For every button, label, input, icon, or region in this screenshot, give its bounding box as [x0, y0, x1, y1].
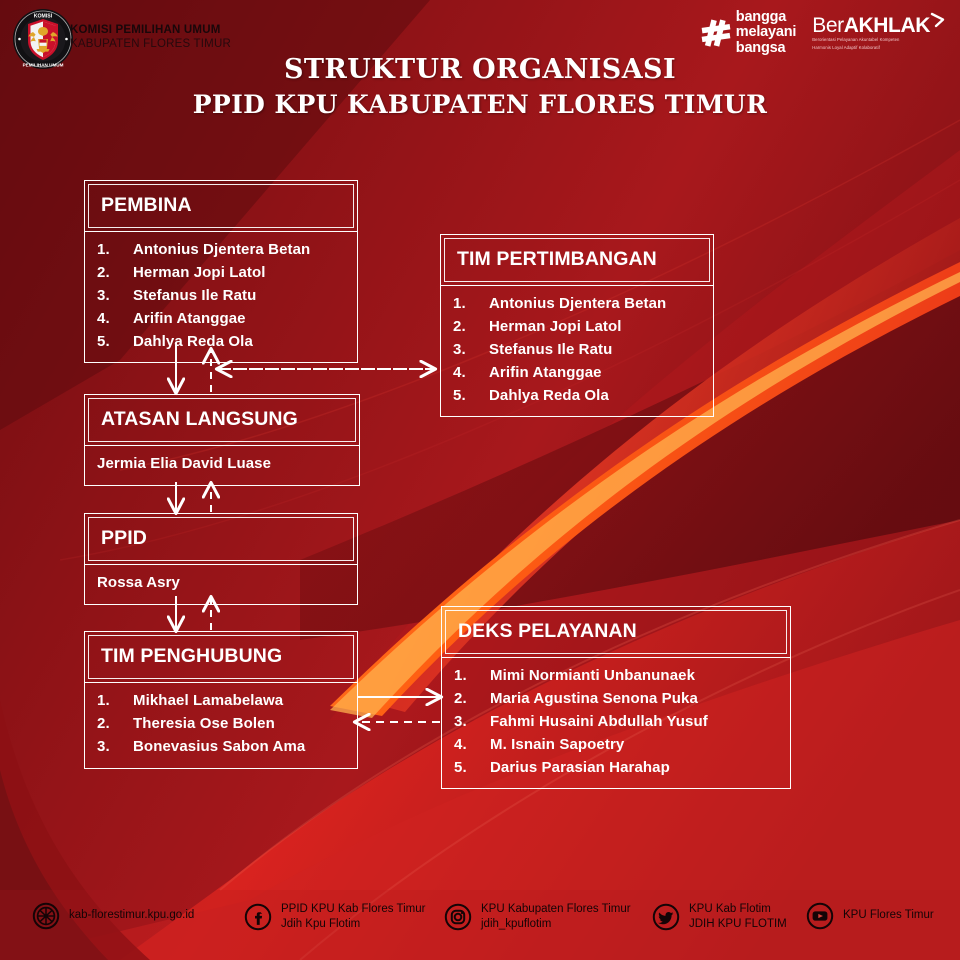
berakhlak-tagline-1: Berorientasi Pelayanan Akuntabel Kompete…: [812, 37, 930, 43]
list-number: 1.: [97, 239, 133, 262]
kpu-org-text: KOMISI PEMILIHAN UMUM KABUPATEN FLORES T…: [70, 24, 231, 51]
list-item: 3.Stefanus Ile Ratu: [453, 339, 701, 362]
list-item: 2.Herman Jopi Latol: [453, 316, 701, 339]
member-name: Dahlya Reda Ola: [133, 331, 253, 354]
list-item: 2.Theresia Ose Bolen: [97, 713, 345, 736]
footer-twitter-line2: JDIH KPU FLOTIM: [689, 917, 787, 932]
list-item: 4.Arifin Atanggae: [97, 308, 345, 331]
list-item: 3.Bonevasius Sabon Ama: [97, 736, 345, 759]
list-number: 2.: [454, 688, 490, 711]
list-item: 2.Maria Agustina Senona Puka: [454, 688, 778, 711]
list-number: 3.: [97, 736, 133, 759]
member-name: Stefanus Ile Ratu: [489, 339, 612, 362]
berakhlak-word-a: Ber: [812, 14, 843, 37]
instagram-icon: [444, 903, 472, 931]
member-name: Antonius Djentera Betan: [133, 239, 310, 262]
box-deks-pelayanan[interactable]: DEKS PELAYANAN 1.Mimi Normianti Unbanuna…: [441, 606, 791, 789]
box-pembina-body: 1.Antonius Djentera Betan 2.Herman Jopi …: [85, 232, 357, 362]
member-name: Maria Agustina Senona Puka: [490, 688, 698, 711]
list-number: 4.: [454, 734, 490, 757]
member-name: Fahmi Husaini Abdullah Yusuf: [490, 711, 708, 734]
list-item: 4.Arifin Atanggae: [453, 362, 701, 385]
box-atasan-langsung-body: Jermia Elia David Luase: [85, 446, 359, 485]
member-name: Jermia Elia David Luase: [97, 453, 347, 476]
list-number: 2.: [97, 713, 133, 736]
hash-icon: [701, 18, 731, 48]
box-pembina-list: 1.Antonius Djentera Betan 2.Herman Jopi …: [97, 239, 345, 353]
member-name: Theresia Ose Bolen: [133, 713, 275, 736]
list-number: 4.: [97, 308, 133, 331]
list-number: 1.: [97, 690, 133, 713]
bangga-line1: bangga: [736, 10, 796, 25]
list-number: 2.: [97, 262, 133, 285]
facebook-icon: [244, 903, 272, 931]
box-ppid[interactable]: PPID Rossa Asry: [84, 513, 358, 605]
box-pembina-heading: PEMBINA: [88, 184, 354, 228]
member-name: Darius Parasian Harahap: [490, 757, 670, 780]
list-item: 1.Antonius Djentera Betan: [453, 293, 701, 316]
footer-facebook-line2: Jdih Kpu Flotim: [281, 917, 425, 932]
list-item: 1.Mimi Normianti Unbanunaek: [454, 665, 778, 688]
box-tim-pertimbangan-body: 1.Antonius Djentera Betan 2.Herman Jopi …: [441, 286, 713, 416]
footer-twitter-line1: KPU Kab Flotim: [689, 902, 787, 917]
list-item: 2.Herman Jopi Latol: [97, 262, 345, 285]
list-number: 2.: [453, 316, 489, 339]
member-name: Antonius Djentera Betan: [489, 293, 666, 316]
berakhlak-logo: BerAKHLAK Berorientasi Pelayanan Akuntab…: [812, 15, 946, 51]
box-deks-pelayanan-heading: DEKS PELAYANAN: [445, 610, 787, 654]
member-name: Mikhael Lamabelawa: [133, 690, 283, 713]
globe-icon: [32, 902, 60, 930]
list-number: 3.: [454, 711, 490, 734]
member-name: Dahlya Reda Ola: [489, 385, 609, 408]
box-deks-pelayanan-list: 1.Mimi Normianti Unbanunaek 2.Maria Agus…: [454, 665, 778, 779]
member-name: M. Isnain Sapoetry: [490, 734, 624, 757]
box-tim-pertimbangan-heading: TIM PERTIMBANGAN: [444, 238, 710, 282]
title-line-2: PPID KPU KABUPATEN FLORES TIMUR: [0, 88, 960, 122]
page-title: STRUKTUR ORGANISASI PPID KPU KABUPATEN F…: [0, 52, 960, 122]
berakhlak-word-b: AKHLAK: [844, 14, 930, 37]
footer-facebook-line1: PPID KPU Kab Flores Timur: [281, 902, 425, 917]
list-item: 1.Antonius Djentera Betan: [97, 239, 345, 262]
bangga-line2: melayani: [736, 25, 796, 40]
list-number: 4.: [453, 362, 489, 385]
box-tim-penghubung-body: 1.Mikhael Lamabelawa 2.Theresia Ose Bole…: [85, 683, 357, 767]
list-item: 5.Dahlya Reda Ola: [97, 331, 345, 354]
berakhlak-tagline-2: Harmonis Loyal Adaptif Kolaboratif: [812, 45, 930, 51]
member-name: Arifin Atanggae: [489, 362, 602, 385]
box-ppid-heading: PPID: [88, 517, 354, 561]
box-atasan-langsung[interactable]: ATASAN LANGSUNG Jermia Elia David Luase: [84, 394, 360, 486]
list-item: 5.Darius Parasian Harahap: [454, 757, 778, 780]
title-line-1: STRUKTUR ORGANISASI: [0, 52, 960, 88]
member-name: Stefanus Ile Ratu: [133, 285, 256, 308]
footer-instagram-line1: KPU Kabupaten Flores Timur: [481, 902, 631, 917]
svg-text:KOMISI: KOMISI: [34, 14, 53, 20]
brand-logos: bangga melayani bangsa BerAKHLAK Berorie…: [701, 10, 946, 56]
footer-website-line1: kab-florestimur.kpu.go.id: [69, 908, 194, 923]
youtube-icon: [806, 902, 834, 930]
footer-twitter[interactable]: KPU Kab Flotim JDIH KPU FLOTIM: [652, 902, 787, 932]
list-item: 3.Stefanus Ile Ratu: [97, 285, 345, 308]
list-item: 5.Dahlya Reda Ola: [453, 385, 701, 408]
footer-social-bar: kab-florestimur.kpu.go.id PPID KPU Kab F…: [0, 888, 960, 960]
member-name: Mimi Normianti Unbanunaek: [490, 665, 695, 688]
footer-youtube-line1: KPU Flores Timur: [843, 908, 934, 923]
box-deks-pelayanan-body: 1.Mimi Normianti Unbanunaek 2.Maria Agus…: [442, 658, 790, 788]
box-tim-penghubung[interactable]: TIM PENGHUBUNG 1.Mikhael Lamabelawa 2.Th…: [84, 631, 358, 769]
list-number: 1.: [453, 293, 489, 316]
list-number: 5.: [97, 331, 133, 354]
box-atasan-langsung-heading: ATASAN LANGSUNG: [88, 398, 356, 442]
footer-instagram[interactable]: KPU Kabupaten Flores Timur jdih_kpufloti…: [444, 902, 631, 932]
list-number: 5.: [454, 757, 490, 780]
list-item: 1.Mikhael Lamabelawa: [97, 690, 345, 713]
member-name: Herman Jopi Latol: [133, 262, 266, 285]
list-number: 1.: [454, 665, 490, 688]
footer-youtube[interactable]: KPU Flores Timur: [806, 902, 934, 930]
box-ppid-body: Rossa Asry: [85, 565, 357, 604]
kpu-org-line1: KOMISI PEMILIHAN UMUM: [70, 24, 231, 38]
list-item: 4.M. Isnain Sapoetry: [454, 734, 778, 757]
member-name: Rossa Asry: [97, 572, 345, 595]
box-tim-penghubung-list: 1.Mikhael Lamabelawa 2.Theresia Ose Bole…: [97, 690, 345, 758]
footer-instagram-line2: jdih_kpuflotim: [481, 917, 631, 932]
kpu-org-line2: KABUPATEN FLORES TIMUR: [70, 38, 231, 52]
box-tim-pertimbangan[interactable]: TIM PERTIMBANGAN 1.Antonius Djentera Bet…: [440, 234, 714, 417]
footer-website[interactable]: kab-florestimur.kpu.go.id: [32, 902, 194, 930]
member-name: Herman Jopi Latol: [489, 316, 622, 339]
list-number: 5.: [453, 385, 489, 408]
twitter-icon: [652, 903, 680, 931]
member-name: Arifin Atanggae: [133, 308, 246, 331]
member-name: Bonevasius Sabon Ama: [133, 736, 305, 759]
bangga-melayani-bangsa-logo: bangga melayani bangsa: [701, 10, 796, 56]
box-pembina[interactable]: PEMBINA 1.Antonius Djentera Betan 2.Herm…: [84, 180, 358, 363]
box-tim-pertimbangan-list: 1.Antonius Djentera Betan 2.Herman Jopi …: [453, 293, 701, 407]
box-tim-penghubung-heading: TIM PENGHUBUNG: [88, 635, 354, 679]
list-number: 3.: [97, 285, 133, 308]
list-item: 3.Fahmi Husaini Abdullah Yusuf: [454, 711, 778, 734]
footer-facebook[interactable]: PPID KPU Kab Flores Timur Jdih Kpu Floti…: [244, 902, 425, 932]
list-number: 3.: [453, 339, 489, 362]
chevron-swoosh-icon: [930, 12, 946, 28]
